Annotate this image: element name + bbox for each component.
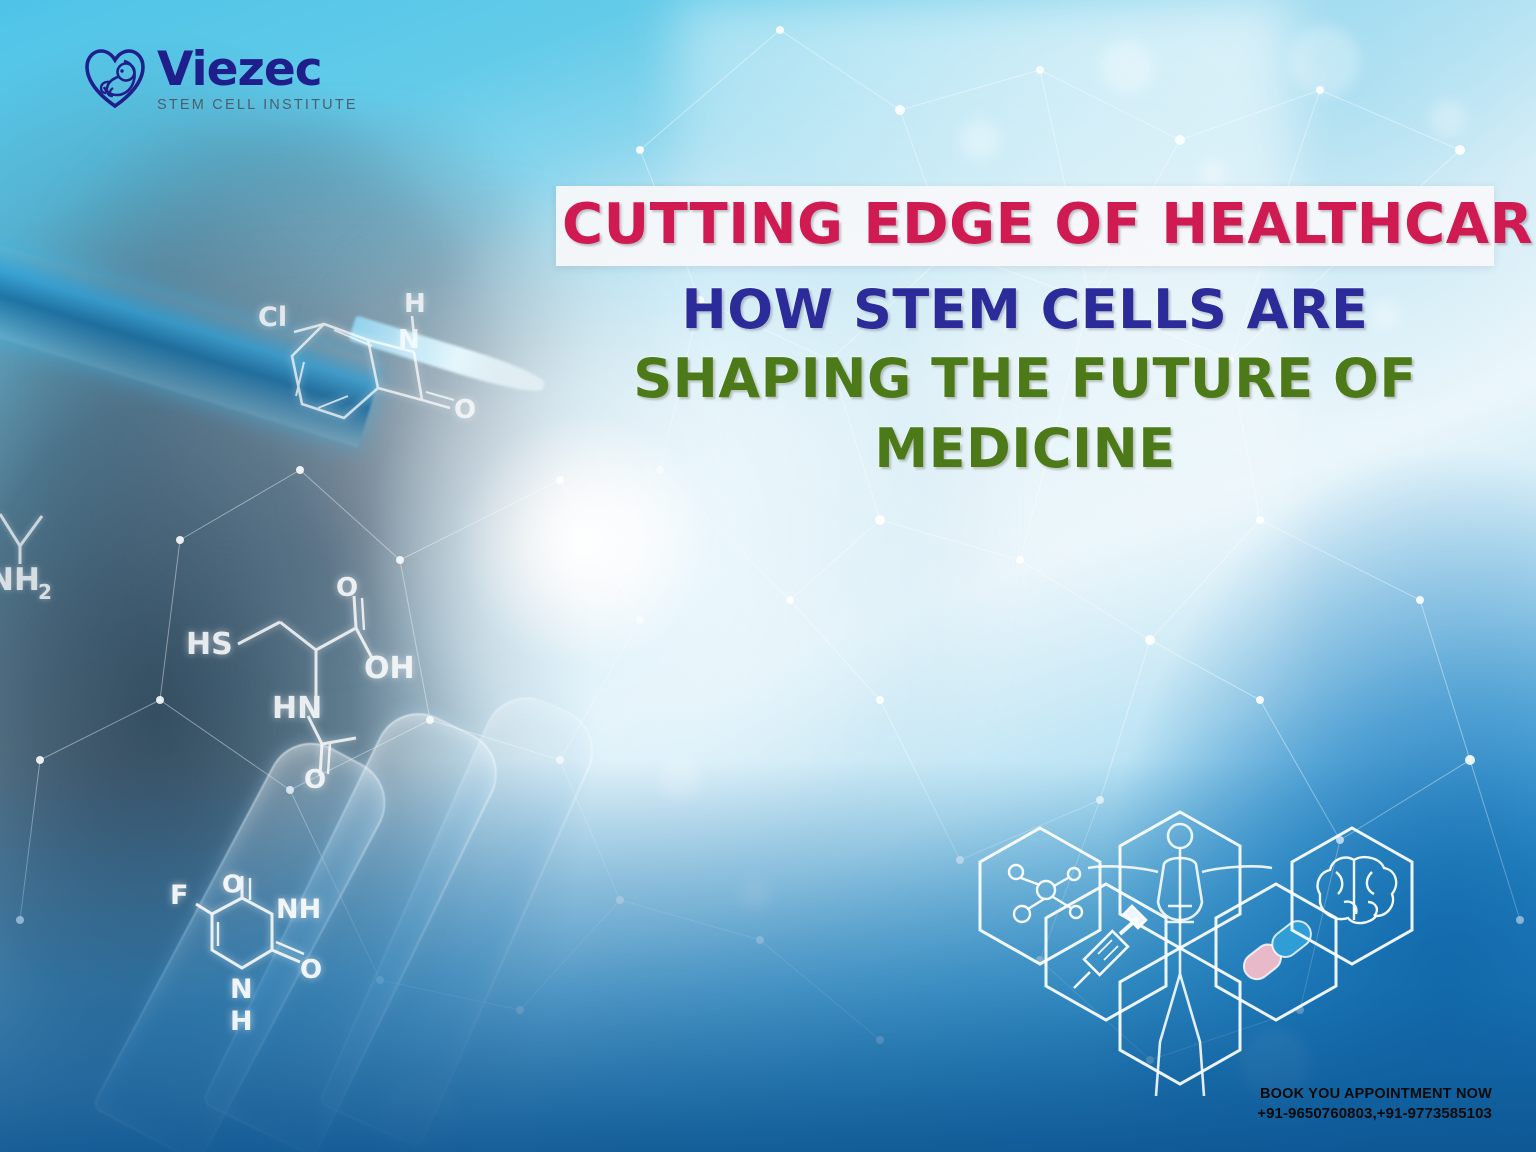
- chem-label-o: O: [454, 395, 476, 425]
- chem-formula-amine: NH 2: [0, 506, 106, 616]
- chem-formula-cysteine: HS O OH HN O: [176, 588, 426, 788]
- chem-label-h: H: [230, 1006, 253, 1037]
- cta-phone-numbers[interactable]: +91-9650760803,+91-9773585103: [1257, 1104, 1492, 1124]
- chem-label-hs: HS: [186, 627, 233, 662]
- bokeh-dot: [1290, 26, 1360, 96]
- title-line-2: HOW STEM CELLS ARE: [556, 282, 1494, 338]
- brand-tagline: STEM CELL INSTITUTE: [157, 98, 358, 113]
- chem-label-o-right: O: [300, 955, 322, 985]
- chem-formula-oxindole: Cl H N O: [236, 296, 506, 456]
- cta-heading: BOOK YOU APPOINTMENT NOW: [1257, 1085, 1492, 1104]
- chem-label-n: N: [398, 325, 420, 355]
- brand-logo-text: Viezec STEM CELL INSTITUTE: [157, 44, 358, 113]
- chem-label-n: N: [230, 974, 253, 1005]
- chem-label-f: F: [170, 880, 188, 911]
- title-line-4: MEDICINE: [556, 421, 1494, 477]
- chem-label-cl: Cl: [258, 302, 287, 333]
- cta-contact-block: BOOK YOU APPOINTMENT NOW +91-9650760803,…: [1257, 1085, 1492, 1124]
- title-band: CUTTING EDGE OF HEALTHCARE:: [556, 186, 1494, 266]
- bokeh-dot: [1430, 100, 1466, 136]
- chem-label-o-top: O: [336, 573, 358, 603]
- chem-label-h: H: [404, 289, 426, 319]
- hex-brain: [1292, 828, 1412, 964]
- chem-label-nh: NH: [0, 562, 40, 598]
- hex-pill: [1216, 884, 1336, 1020]
- title-line-1: CUTTING EDGE OF HEALTHCARE:: [562, 196, 1488, 254]
- chem-label-nh-sub: 2: [38, 580, 52, 604]
- poster-banner: NH 2 Cl H N O: [0, 0, 1536, 1152]
- poster-title: CUTTING EDGE OF HEALTHCARE: HOW STEM CEL…: [556, 186, 1494, 477]
- heart-embryo-icon: [84, 46, 146, 110]
- hexagon-icon-cluster: [968, 806, 1438, 1106]
- chem-label-o-bottom: O: [304, 765, 326, 795]
- chem-formula-fluorouracil: F O NH O N H: [160, 874, 340, 1034]
- chem-label-o-top: O: [222, 869, 243, 898]
- title-line-3: SHAPING THE FUTURE OF: [556, 351, 1494, 407]
- brand-logo[interactable]: Viezec STEM CELL INSTITUTE: [84, 44, 358, 113]
- chem-label-oh: OH: [364, 651, 415, 686]
- chem-label-hn: HN: [272, 691, 322, 726]
- chem-label-nh: NH: [276, 894, 321, 925]
- brand-name: Viezec: [157, 46, 358, 93]
